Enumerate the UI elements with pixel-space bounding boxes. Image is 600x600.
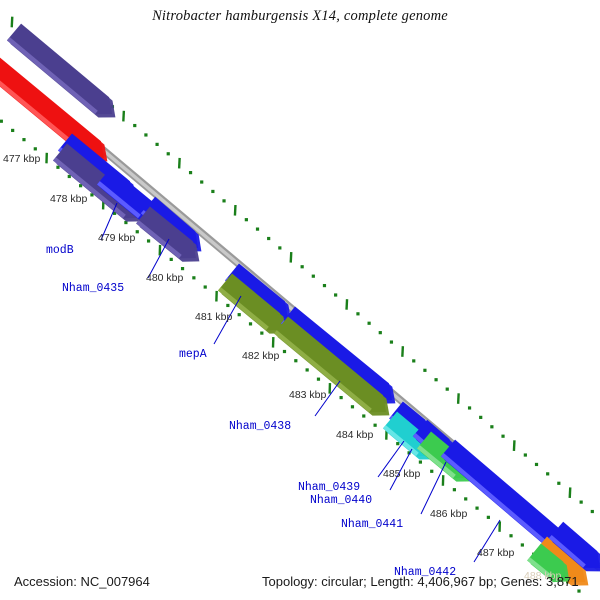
scale-tick-minor (283, 350, 286, 353)
scale-tick-major (291, 252, 292, 263)
gene-label-Nham_0441[interactable]: Nham_0441 (341, 518, 403, 531)
scale-tick-minor (0, 120, 3, 123)
gene-top-highlight (441, 453, 556, 552)
scale-tick-minor (356, 312, 359, 315)
scale-tick-minor (323, 284, 326, 287)
scale-tick-minor (368, 322, 371, 325)
scale-tick-minor (189, 171, 192, 174)
scale-tick-major (235, 205, 236, 216)
scale-tick-minor (487, 516, 490, 519)
scale-label-487: 487 kbp (477, 547, 514, 559)
scale-tick-minor (434, 378, 437, 381)
gene-features-layer[interactable] (0, 24, 600, 586)
scale-tick-major (570, 487, 571, 498)
scale-tick-minor (144, 133, 147, 136)
scale-tick-minor (546, 472, 549, 475)
scale-tick-minor (11, 129, 14, 132)
scale-tick-minor (133, 124, 136, 127)
scale-tick-minor (475, 507, 478, 510)
scale-tick-minor (351, 405, 354, 408)
scale-tick-minor (245, 218, 248, 221)
status-bar: Accession: NC_007964 Topology: circular;… (0, 568, 600, 600)
scale-label-483: 483 kbp (289, 389, 326, 401)
scale-tick-minor (535, 463, 538, 466)
genome-summary-text: Topology: circular; Length: 4,406,967 bp… (262, 574, 579, 589)
scale-label-479: 479 kbp (98, 232, 135, 244)
scale-tick-minor (362, 414, 365, 417)
scale-tick-minor (155, 143, 158, 146)
scale-tick-minor (334, 293, 337, 296)
scale-tick-minor (200, 180, 203, 183)
gene-label-mepA[interactable]: mepA (179, 348, 207, 361)
gene-label-modB[interactable]: modB (46, 244, 74, 257)
scale-tick-minor (22, 138, 25, 141)
scale-label-484: 484 kbp (336, 429, 373, 441)
scale-tick-minor (317, 378, 320, 381)
scale-tick-minor (374, 424, 377, 427)
scale-tick-minor (306, 368, 309, 371)
scale-tick-minor (419, 460, 422, 463)
scale-tick-minor (192, 276, 195, 279)
scale-label-482: 482 kbp (242, 350, 279, 362)
scale-tick-minor (312, 275, 315, 278)
scale-tick-minor (430, 470, 433, 473)
gene-label-Nham_0435[interactable]: Nham_0435 (62, 282, 124, 295)
scale-tick-minor (260, 331, 263, 334)
scale-tick-minor (256, 228, 259, 231)
scale-tick-minor (412, 359, 415, 362)
scale-label-480: 480 kbp (146, 272, 183, 284)
scale-tick-minor (147, 239, 150, 242)
scale-tick-minor (278, 246, 281, 249)
scale-tick-minor (204, 285, 207, 288)
scale-tick-minor (226, 304, 229, 307)
scale-label-485: 485 kbp (383, 468, 420, 480)
scale-tick-major (347, 299, 348, 310)
accession-text: Accession: NC_007964 (14, 574, 150, 589)
scale-tick-minor (557, 482, 560, 485)
scale-tick-major (179, 158, 180, 169)
scale-tick-minor (238, 313, 241, 316)
scale-label-477: 477 kbp (3, 153, 40, 165)
scale-tick-minor (340, 396, 343, 399)
scale-tick-major (402, 346, 403, 357)
scale-tick-minor (170, 258, 173, 261)
scale-tick-minor (423, 369, 426, 372)
scale-tick-major (458, 393, 459, 404)
scale-tick-minor (521, 543, 524, 546)
scale-tick-minor (479, 416, 482, 419)
scale-tick-minor (249, 322, 252, 325)
scale-tick-minor (580, 501, 583, 504)
scale-label-486: 486 kbp (430, 508, 467, 520)
scale-tick-minor (211, 190, 214, 193)
scale-tick-minor (301, 265, 304, 268)
genome-map-canvas[interactable]: Nitrobacter hamburgensis X14, complete g… (0, 0, 600, 600)
genome-map-svg[interactable] (0, 0, 600, 600)
gene-label-Nham_0439[interactable]: Nham_0439 (298, 481, 360, 494)
scale-tick-major (514, 440, 515, 451)
scale-label-481: 481 kbp (195, 311, 232, 323)
label-leader-line (421, 462, 446, 514)
scale-tick-minor (167, 152, 170, 155)
scale-tick-minor (181, 267, 184, 270)
gene-label-Nham_0440[interactable]: Nham_0440 (310, 494, 372, 507)
scale-tick-minor (136, 230, 139, 233)
scale-tick-minor (379, 331, 382, 334)
scale-tick-minor (34, 147, 37, 150)
scale-tick-minor (524, 453, 527, 456)
scale-tick-minor (56, 166, 59, 169)
scale-tick-minor (490, 425, 493, 428)
scale-tick-minor (591, 510, 594, 513)
scale-tick-minor (396, 442, 399, 445)
scale-tick-minor (446, 388, 449, 391)
scale-tick-minor (509, 534, 512, 537)
scale-tick-minor (453, 488, 456, 491)
scale-tick-minor (222, 199, 225, 202)
gene-label-Nham_0438[interactable]: Nham_0438 (229, 420, 291, 433)
page-title: Nitrobacter hamburgensis X14, complete g… (0, 8, 600, 25)
scale-label-478: 478 kbp (50, 193, 87, 205)
scale-tick-minor (294, 359, 297, 362)
scale-tick-minor (501, 435, 504, 438)
scale-tick-minor (390, 340, 393, 343)
scale-tick-minor (464, 497, 467, 500)
scale-tick-minor (468, 406, 471, 409)
gene-body-face (441, 440, 570, 552)
scale-tick-major (123, 111, 124, 122)
scale-tick-minor (267, 237, 270, 240)
